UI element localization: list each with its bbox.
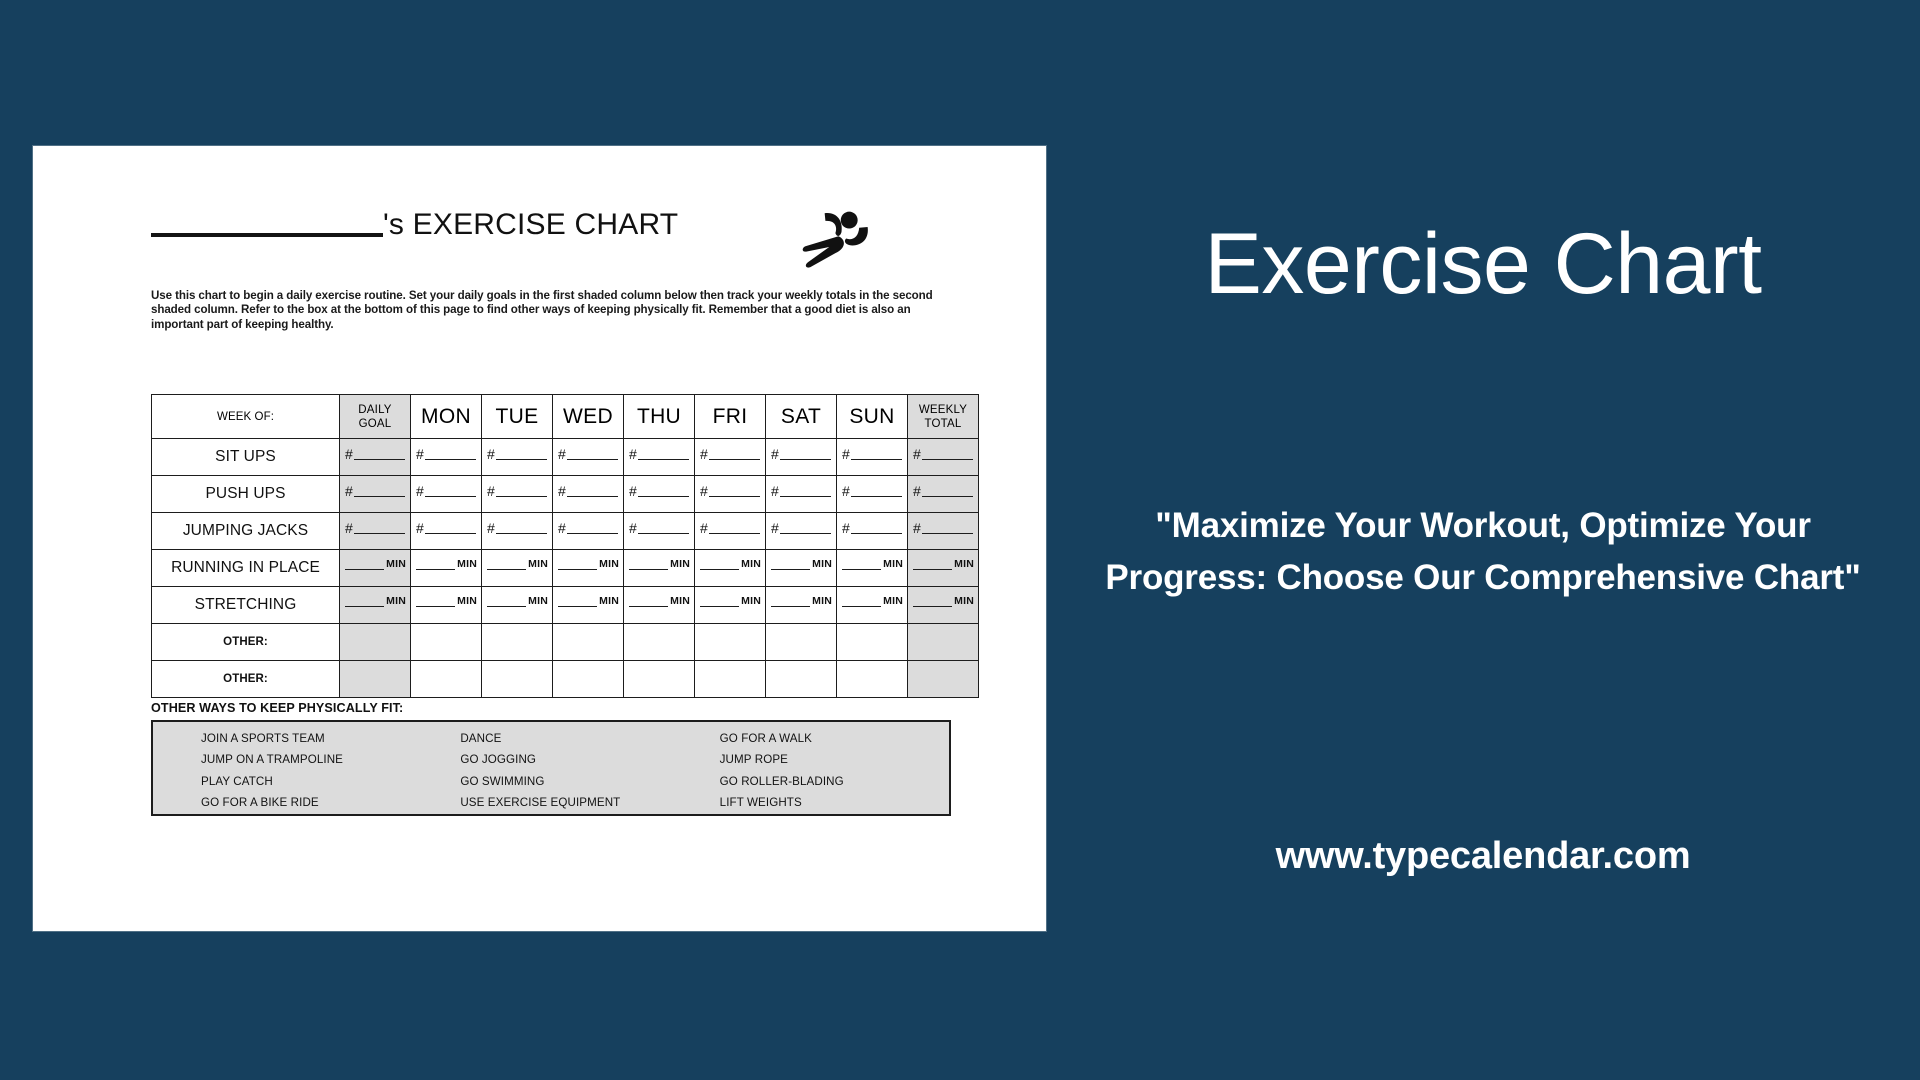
min-unit-label: MIN (883, 559, 903, 570)
cell-weekly-total[interactable]: MIN (908, 587, 979, 624)
other-ways-item: JUMP ROPE (720, 749, 949, 770)
row-label: OTHER: (152, 624, 340, 661)
min-unit-label: MIN (670, 596, 690, 607)
min-unit-label: MIN (457, 559, 477, 570)
cell-thu[interactable]: # (624, 513, 695, 550)
cell-sat[interactable]: # (766, 476, 837, 513)
cell-fri[interactable]: # (695, 439, 766, 476)
cell-sun[interactable]: # (837, 513, 908, 550)
cell-entry-area[interactable] (695, 639, 765, 646)
cell-sun[interactable]: MIN (837, 587, 908, 624)
header-daily-goal-line1: DAILY (358, 404, 391, 416)
cell-entry-area[interactable]: MIN (482, 559, 552, 577)
write-in-rule (354, 523, 405, 534)
write-in-rule (780, 486, 831, 497)
hash-symbol: # (629, 448, 637, 460)
min-unit-label: MIN (741, 596, 761, 607)
write-in-rule (416, 596, 455, 607)
sheet-title-row: 's EXERCISE CHART (151, 208, 951, 268)
cell-entry-area[interactable]: # (553, 485, 623, 504)
write-in-rule (851, 449, 902, 460)
exercise-chart-table: WEEK OF: DAILY GOAL MON TUE WED THU FRI … (151, 394, 979, 698)
cell-entry-area[interactable]: # (624, 485, 694, 504)
hash-symbol: # (416, 448, 424, 460)
cell-fri[interactable]: MIN (695, 587, 766, 624)
cell-entry-area[interactable]: # (553, 522, 623, 541)
cell-sat[interactable]: # (766, 513, 837, 550)
cell-daily-goal[interactable]: MIN (340, 587, 411, 624)
row-label: JUMPING JACKS (152, 513, 340, 550)
write-in-rule (496, 486, 547, 497)
cell-entry-area[interactable]: # (340, 522, 410, 541)
table-row: RUNNING IN PLACEMINMINMINMINMINMINMINMIN… (152, 550, 979, 587)
cell-fri[interactable]: # (695, 513, 766, 550)
cell-wed[interactable]: MIN (553, 550, 624, 587)
hash-symbol: # (345, 485, 353, 497)
cell-entry-area[interactable]: # (695, 485, 765, 504)
table-header-row: WEEK OF: DAILY GOAL MON TUE WED THU FRI … (152, 395, 979, 439)
cell-sun[interactable] (837, 661, 908, 698)
cell-entry-area[interactable]: MIN (695, 559, 765, 577)
running-figure-icon (801, 204, 879, 270)
row-label: STRETCHING (152, 587, 340, 624)
cell-sat[interactable]: # (766, 439, 837, 476)
cell-sun[interactable] (837, 624, 908, 661)
header-day-thu: THU (624, 395, 695, 439)
other-ways-item: LIFT WEIGHTS (720, 792, 949, 813)
header-day-wed: WED (553, 395, 624, 439)
cell-thu[interactable]: # (624, 439, 695, 476)
header-daily-goal-line2: GOAL (359, 418, 392, 430)
cell-entry-area[interactable] (411, 676, 481, 683)
write-in-rule (487, 596, 526, 607)
min-unit-label: MIN (812, 559, 832, 570)
cell-entry-area[interactable]: MIN (837, 596, 907, 614)
cell-daily-goal[interactable]: # (340, 439, 411, 476)
cell-mon[interactable]: MIN (411, 587, 482, 624)
min-unit-label: MIN (954, 596, 974, 607)
cell-entry-area[interactable]: # (837, 485, 907, 504)
cell-wed[interactable] (553, 661, 624, 698)
page-title: 's EXERCISE CHART (383, 208, 678, 241)
cell-entry-area[interactable]: MIN (837, 559, 907, 577)
table-row: JUMPING JACKS######### (152, 513, 979, 550)
hash-symbol: # (416, 522, 424, 534)
cell-entry-area[interactable]: # (482, 448, 552, 467)
cell-mon[interactable]: # (411, 439, 482, 476)
cell-sun[interactable]: # (837, 439, 908, 476)
printable-sheet: 's EXERCISE CHART Use this chart to begi… (33, 146, 1046, 931)
write-in-rule (416, 559, 455, 570)
cell-entry-area[interactable] (624, 676, 694, 683)
cell-entry-area[interactable]: MIN (340, 596, 410, 614)
min-unit-label: MIN (954, 559, 974, 570)
cell-fri[interactable]: MIN (695, 550, 766, 587)
write-in-rule (567, 523, 618, 534)
cell-entry-area[interactable]: # (837, 448, 907, 467)
cell-entry-area[interactable]: # (411, 448, 481, 467)
min-unit-label: MIN (741, 559, 761, 570)
table-row: STRETCHINGMINMINMINMINMINMINMINMINMIN (152, 587, 979, 624)
hash-symbol: # (629, 485, 637, 497)
cell-entry-area[interactable]: # (411, 485, 481, 504)
cell-sun[interactable]: # (837, 476, 908, 513)
cell-entry-area[interactable]: MIN (766, 596, 836, 614)
min-unit-label: MIN (528, 559, 548, 570)
cell-entry-area[interactable]: # (553, 448, 623, 467)
cell-entry-area[interactable] (340, 676, 410, 683)
min-unit-label: MIN (386, 596, 406, 607)
cell-entry-area[interactable] (908, 676, 978, 683)
cell-tue[interactable]: # (482, 513, 553, 550)
cell-entry-area[interactable]: # (766, 522, 836, 541)
other-ways-column: JOIN A SPORTS TEAMJUMP ON A TRAMPOLINEPL… (153, 722, 430, 814)
cell-entry-area[interactable]: MIN (411, 559, 481, 577)
cell-entry-area[interactable] (340, 639, 410, 646)
cell-weekly-total[interactable]: MIN (908, 550, 979, 587)
cell-tue[interactable] (482, 624, 553, 661)
other-ways-item: JOIN A SPORTS TEAM (201, 728, 430, 749)
cell-entry-area[interactable]: MIN (908, 559, 978, 577)
write-in-rule (496, 449, 547, 460)
cell-tue[interactable]: # (482, 476, 553, 513)
write-in-rule (700, 559, 739, 570)
other-ways-column: GO FOR A WALKJUMP ROPEGO ROLLER-BLADINGL… (690, 722, 949, 814)
cell-entry-area[interactable]: MIN (482, 596, 552, 614)
other-ways-item: GO FOR A WALK (720, 728, 949, 749)
cell-wed[interactable] (553, 624, 624, 661)
hash-symbol: # (842, 448, 850, 460)
cell-daily-goal[interactable]: MIN (340, 550, 411, 587)
hash-symbol: # (700, 448, 708, 460)
cell-entry-area[interactable] (482, 639, 552, 646)
other-ways-item: GO JOGGING (460, 749, 689, 770)
cell-entry-area[interactable] (837, 639, 907, 646)
cell-entry-area[interactable]: # (340, 485, 410, 504)
hash-symbol: # (487, 485, 495, 497)
cell-daily-goal[interactable] (340, 661, 411, 698)
min-unit-label: MIN (457, 596, 477, 607)
right-promo-panel: Exercise Chart "Maximize Your Workout, O… (1046, 0, 1920, 1080)
write-in-rule (487, 559, 526, 570)
write-in-rule (558, 596, 597, 607)
cell-wed[interactable]: MIN (553, 587, 624, 624)
header-weekly-total: WEEKLY TOTAL (908, 395, 979, 439)
other-ways-item: GO ROLLER-BLADING (720, 771, 949, 792)
write-in-rule (709, 486, 760, 497)
cell-entry-area[interactable] (553, 676, 623, 683)
write-in-rule (922, 486, 973, 497)
website-url[interactable]: www.typecalendar.com (1046, 835, 1920, 878)
table-body: SIT UPS#########PUSH UPS#########JUMPING… (152, 439, 979, 698)
write-in-rule (354, 486, 405, 497)
hash-symbol: # (913, 448, 921, 460)
header-day-sun: SUN (837, 395, 908, 439)
write-in-rule (354, 449, 405, 460)
cell-entry-area[interactable]: # (624, 522, 694, 541)
write-in-rule (345, 596, 384, 607)
write-in-rule (780, 523, 831, 534)
cell-entry-area[interactable]: MIN (695, 596, 765, 614)
write-in-rule (638, 486, 689, 497)
cell-daily-goal[interactable]: # (340, 513, 411, 550)
hash-symbol: # (913, 485, 921, 497)
table-row: PUSH UPS######### (152, 476, 979, 513)
write-in-rule (638, 449, 689, 460)
write-in-rule (425, 523, 476, 534)
other-ways-title: OTHER WAYS TO KEEP PHYSICALLY FIT: (151, 701, 403, 715)
table-row: OTHER: (152, 624, 979, 661)
table-row: OTHER: (152, 661, 979, 698)
hash-symbol: # (487, 448, 495, 460)
brand-title: Exercise Chart (1046, 216, 1920, 312)
write-in-rule (922, 449, 973, 460)
write-in-rule (851, 486, 902, 497)
cell-weekly-total[interactable] (908, 661, 979, 698)
cell-mon[interactable]: # (411, 476, 482, 513)
promo-tagline: "Maximize Your Workout, Optimize Your Pr… (1088, 500, 1878, 604)
write-in-rule (709, 523, 760, 534)
cell-entry-area[interactable]: # (695, 448, 765, 467)
header-week-of: WEEK OF: (152, 395, 340, 439)
cell-thu[interactable] (624, 661, 695, 698)
hash-symbol: # (416, 485, 424, 497)
cell-entry-area[interactable]: MIN (340, 559, 410, 577)
cell-wed[interactable]: # (553, 513, 624, 550)
hash-symbol: # (771, 485, 779, 497)
write-in-rule (425, 486, 476, 497)
header-day-sat: SAT (766, 395, 837, 439)
write-in-rule (425, 449, 476, 460)
cell-thu[interactable]: # (624, 476, 695, 513)
hash-symbol: # (629, 522, 637, 534)
cell-thu[interactable] (624, 624, 695, 661)
cell-thu[interactable]: MIN (624, 587, 695, 624)
write-in-rule (638, 523, 689, 534)
cell-mon[interactable] (411, 624, 482, 661)
min-unit-label: MIN (599, 596, 619, 607)
cell-entry-area[interactable]: # (766, 485, 836, 504)
other-ways-item: GO SWIMMING (460, 771, 689, 792)
cell-entry-area[interactable] (624, 639, 694, 646)
cell-entry-area[interactable]: # (908, 522, 978, 541)
header-daily-goal: DAILY GOAL (340, 395, 411, 439)
cell-sun[interactable]: MIN (837, 550, 908, 587)
sheet-content: 's EXERCISE CHART Use this chart to begi… (115, 146, 985, 931)
cell-mon[interactable] (411, 661, 482, 698)
cell-mon[interactable]: # (411, 513, 482, 550)
other-ways-item: JUMP ON A TRAMPOLINE (201, 749, 430, 770)
hash-symbol: # (700, 485, 708, 497)
write-in-rule (709, 449, 760, 460)
write-in-rule (771, 596, 810, 607)
cell-entry-area[interactable]: # (340, 448, 410, 467)
write-in-rule (496, 523, 547, 534)
cell-entry-area[interactable] (837, 676, 907, 683)
write-in-rule (567, 449, 618, 460)
cell-entry-area[interactable]: # (482, 522, 552, 541)
other-ways-item: DANCE (460, 728, 689, 749)
cell-entry-area[interactable]: MIN (553, 596, 623, 614)
cell-entry-area[interactable]: MIN (411, 596, 481, 614)
row-label: OTHER: (152, 661, 340, 698)
cell-mon[interactable]: MIN (411, 550, 482, 587)
min-unit-label: MIN (386, 559, 406, 570)
write-in-rule (567, 486, 618, 497)
row-label: SIT UPS (152, 439, 340, 476)
cell-sat[interactable] (766, 661, 837, 698)
write-in-rule (700, 596, 739, 607)
min-unit-label: MIN (599, 559, 619, 570)
header-day-fri: FRI (695, 395, 766, 439)
cell-thu[interactable]: MIN (624, 550, 695, 587)
cell-entry-area[interactable] (553, 639, 623, 646)
cell-sat[interactable] (766, 624, 837, 661)
write-in-rule (629, 596, 668, 607)
instructions-text: Use this chart to begin a daily exercise… (151, 289, 951, 332)
write-in-rule (922, 523, 973, 534)
cell-fri[interactable]: # (695, 476, 766, 513)
cell-weekly-total[interactable] (908, 624, 979, 661)
hash-symbol: # (842, 522, 850, 534)
other-ways-box: JOIN A SPORTS TEAMJUMP ON A TRAMPOLINEPL… (151, 720, 951, 816)
cell-sat[interactable]: MIN (766, 550, 837, 587)
cell-entry-area[interactable]: MIN (624, 596, 694, 614)
cell-tue[interactable] (482, 661, 553, 698)
cell-entry-area[interactable]: MIN (553, 559, 623, 577)
hash-symbol: # (771, 448, 779, 460)
min-unit-label: MIN (883, 596, 903, 607)
cell-entry-area[interactable] (908, 639, 978, 646)
cell-wed[interactable]: # (553, 476, 624, 513)
cell-weekly-total[interactable]: # (908, 439, 979, 476)
cell-weekly-total[interactable]: # (908, 476, 979, 513)
hash-symbol: # (771, 522, 779, 534)
cell-entry-area[interactable]: # (766, 448, 836, 467)
cell-daily-goal[interactable]: # (340, 476, 411, 513)
header-day-tue: TUE (482, 395, 553, 439)
cell-entry-area[interactable]: MIN (766, 559, 836, 577)
name-blank-line[interactable] (151, 211, 383, 237)
hash-symbol: # (558, 485, 566, 497)
write-in-rule (558, 559, 597, 570)
other-ways-item: PLAY CATCH (201, 771, 430, 792)
hash-symbol: # (487, 522, 495, 534)
cell-wed[interactable]: # (553, 439, 624, 476)
write-in-rule (851, 523, 902, 534)
cell-entry-area[interactable]: # (624, 448, 694, 467)
cell-entry-area[interactable]: # (908, 485, 978, 504)
cell-entry-area[interactable]: # (482, 485, 552, 504)
hash-symbol: # (345, 522, 353, 534)
write-in-rule (629, 559, 668, 570)
row-label: PUSH UPS (152, 476, 340, 513)
hash-symbol: # (558, 522, 566, 534)
write-in-rule (842, 559, 881, 570)
cell-fri[interactable] (695, 661, 766, 698)
cell-tue[interactable]: MIN (482, 550, 553, 587)
cell-entry-area[interactable]: # (908, 448, 978, 467)
cell-daily-goal[interactable] (340, 624, 411, 661)
cell-fri[interactable] (695, 624, 766, 661)
other-ways-item: GO FOR A BIKE RIDE (201, 792, 430, 813)
header-weekly-total-line1: WEEKLY (919, 404, 967, 416)
cell-entry-area[interactable]: # (411, 522, 481, 541)
cell-weekly-total[interactable]: # (908, 513, 979, 550)
hash-symbol: # (700, 522, 708, 534)
table-row: SIT UPS######### (152, 439, 979, 476)
cell-entry-area[interactable]: MIN (908, 596, 978, 614)
min-unit-label: MIN (670, 559, 690, 570)
cell-entry-area[interactable] (766, 676, 836, 683)
cell-entry-area[interactable] (411, 639, 481, 646)
hash-symbol: # (842, 485, 850, 497)
row-label: RUNNING IN PLACE (152, 550, 340, 587)
write-in-rule (913, 559, 952, 570)
cell-entry-area[interactable]: # (695, 522, 765, 541)
write-in-rule (345, 559, 384, 570)
cell-entry-area[interactable] (695, 676, 765, 683)
cell-entry-area[interactable]: MIN (624, 559, 694, 577)
cell-entry-area[interactable]: # (837, 522, 907, 541)
cell-sat[interactable]: MIN (766, 587, 837, 624)
hash-symbol: # (345, 448, 353, 460)
cell-tue[interactable]: MIN (482, 587, 553, 624)
header-day-mon: MON (411, 395, 482, 439)
write-in-rule (842, 596, 881, 607)
write-in-rule (771, 559, 810, 570)
header-weekly-total-line2: TOTAL (925, 418, 962, 430)
min-unit-label: MIN (812, 596, 832, 607)
other-ways-column: DANCEGO JOGGINGGO SWIMMINGUSE EXERCISE E… (430, 722, 689, 814)
min-unit-label: MIN (528, 596, 548, 607)
hash-symbol: # (558, 448, 566, 460)
other-ways-item: USE EXERCISE EQUIPMENT (460, 792, 689, 813)
write-in-rule (913, 596, 952, 607)
cell-entry-area[interactable] (482, 676, 552, 683)
write-in-rule (780, 449, 831, 460)
cell-tue[interactable]: # (482, 439, 553, 476)
cell-entry-area[interactable] (766, 639, 836, 646)
hash-symbol: # (913, 522, 921, 534)
